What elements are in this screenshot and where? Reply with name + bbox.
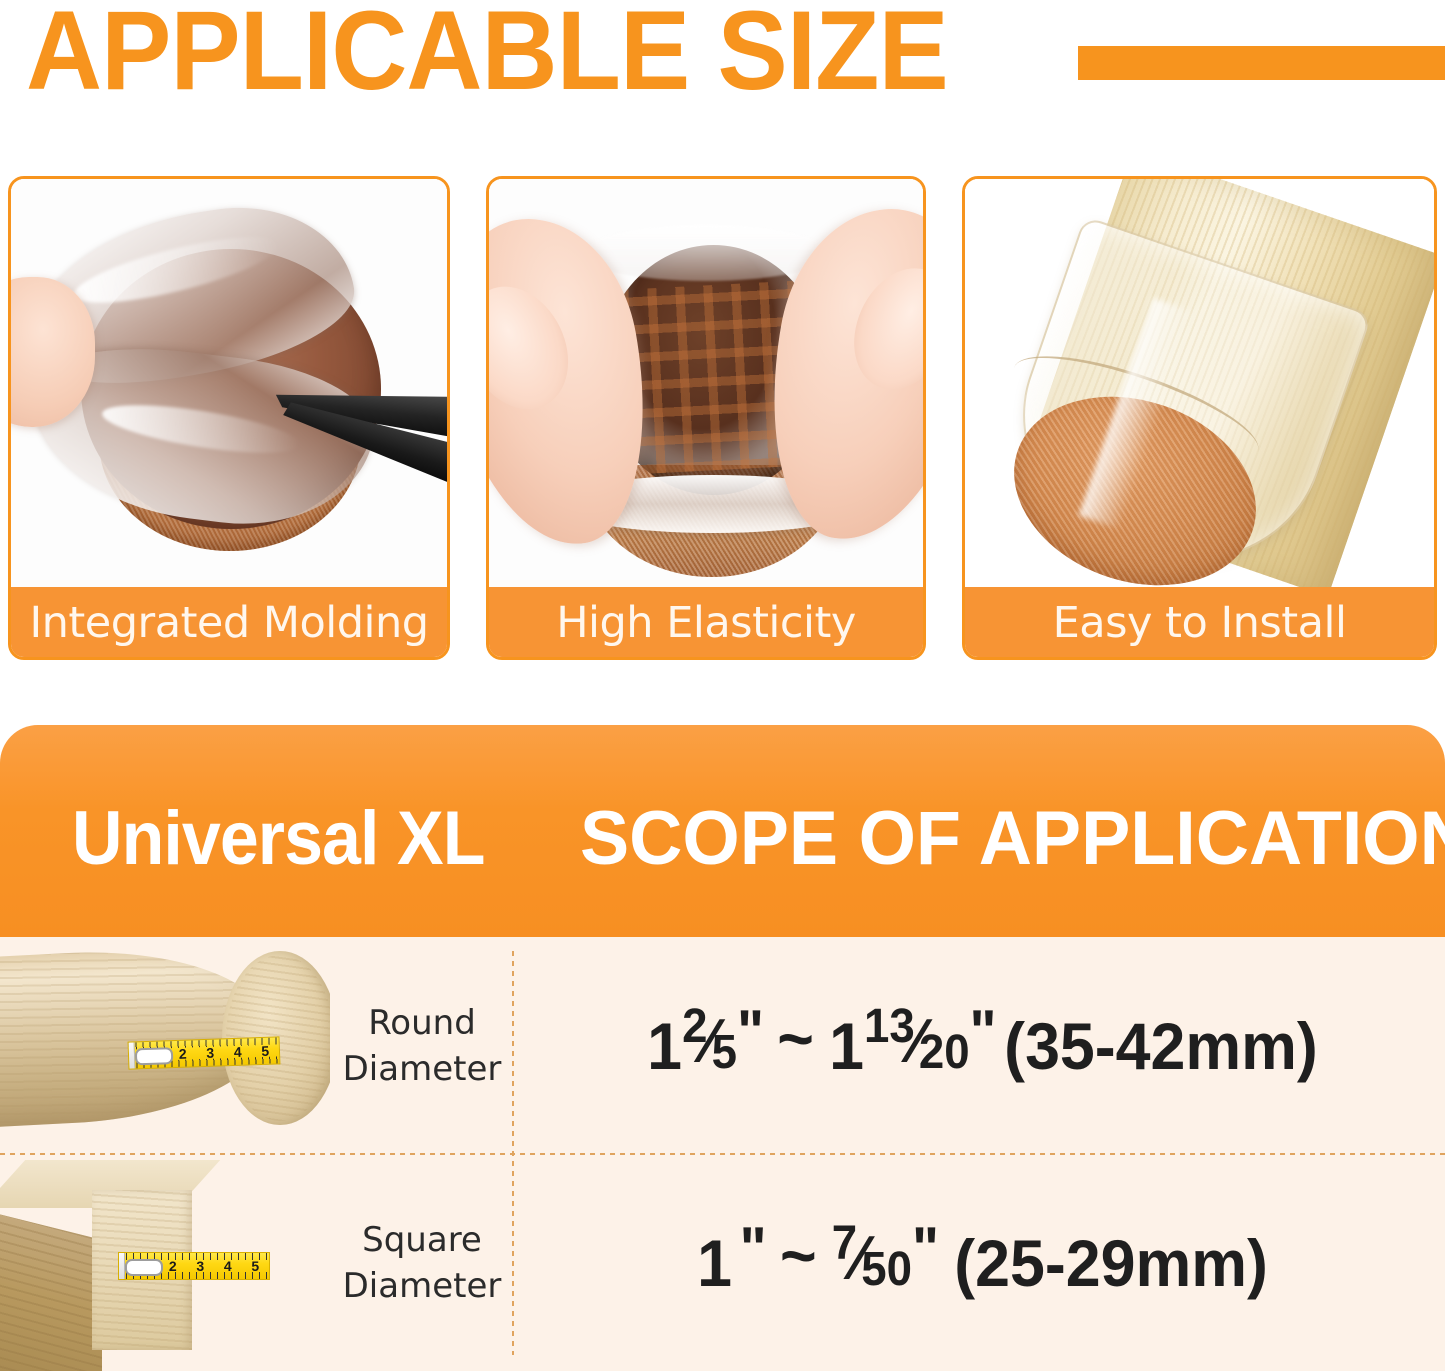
image-round-wood-dowel-with-tape-measure: 2 3 4 5: [0, 937, 330, 1154]
value-range-separator: ~: [777, 1000, 814, 1076]
tape-number: 5: [261, 1043, 269, 1059]
photo-silicone-cap-pinched-with-tweezers: [11, 179, 447, 597]
feature-card-label-band: High Elasticity: [487, 587, 925, 659]
tape-number: 4: [234, 1044, 242, 1060]
infographic-page: APPLICABLE SIZE Integrated M: [0, 0, 1445, 1371]
photo-silicone-cap-stretched-by-thumbs: [489, 179, 923, 597]
spec-label-line1: Round: [368, 1000, 476, 1046]
fraction-denominator: 20: [919, 1029, 970, 1077]
header-accent-bar: [1078, 46, 1445, 80]
square-dowel-side-shape: [0, 1182, 102, 1371]
value-unit-inches: ": [737, 997, 762, 1066]
value-unit-inches: ": [740, 1214, 765, 1283]
feature-card-label-text: High Elasticity: [556, 598, 856, 648]
tape-measure-icon: 2 3 4 5: [128, 1036, 281, 1069]
feature-card-label-text: Easy to Install: [1053, 598, 1347, 648]
fraction-numerator: 13: [864, 1003, 915, 1051]
banner-product-size-title: Universal XL: [72, 795, 485, 882]
spec-label-line1: Square: [362, 1217, 482, 1263]
value-max-whole: 1: [829, 1008, 864, 1084]
value-min-fraction: 2 ⁄ 5: [682, 1009, 737, 1071]
thumbnail-right-shape: [836, 253, 923, 406]
feature-card-label-text: Integrated Molding: [30, 598, 429, 648]
spec-table: 2 3 4 5 Round Diameter 1 2 ⁄ 5 ": [0, 937, 1445, 1371]
value-unit-inches: ": [912, 1214, 937, 1283]
scope-banner: Universal XL SCOPE OF APPLICATION: [0, 725, 1445, 937]
photo-chair-leg-with-cap-installed: [965, 179, 1434, 597]
spec-label-square-diameter: Square Diameter: [336, 1154, 508, 1371]
feature-card-integrated-molding: Integrated Molding: [8, 176, 450, 660]
feature-card-row: Integrated Molding: [0, 176, 1445, 666]
value-min-whole: 1: [647, 1008, 682, 1084]
tape-number: 3: [206, 1045, 214, 1061]
spec-value-round-diameter: 1 2 ⁄ 5 " ~ 1 13 ⁄ 20 " (35-42mm): [562, 937, 1403, 1154]
silicone-gloss-top-shape: [581, 225, 831, 281]
image-square-wood-dowel-with-tape-measure: 2 3 4 5: [0, 1154, 330, 1371]
thumbnail-left-shape: [489, 269, 588, 426]
value-max-fraction: 7 ⁄ 50: [832, 1226, 912, 1288]
tape-number: 2: [169, 1258, 177, 1274]
value-metric: (35-42mm): [1004, 1008, 1318, 1084]
spec-label-round-diameter: Round Diameter: [336, 937, 508, 1154]
feature-card-label-band: Easy to Install: [963, 587, 1436, 659]
spec-label-line2: Diameter: [343, 1046, 502, 1092]
value-max-fraction: 13 ⁄ 20: [864, 1009, 970, 1071]
feature-card-high-elasticity: High Elasticity: [486, 176, 926, 660]
value-metric: (25-29mm): [954, 1225, 1268, 1301]
spec-row-round-diameter: 2 3 4 5 Round Diameter 1 2 ⁄ 5 ": [0, 937, 1445, 1154]
tape-number: 3: [196, 1258, 204, 1274]
feature-card-easy-to-install: Easy to Install: [962, 176, 1437, 660]
tape-number: 4: [224, 1258, 232, 1274]
tape-number: 2: [179, 1046, 187, 1062]
page-title: APPLICABLE SIZE: [26, 0, 948, 106]
fraction-denominator: 5: [712, 1029, 737, 1077]
spec-value-square-diameter: 1 " ~ 7 ⁄ 50 " (25-29mm): [562, 1154, 1403, 1371]
feature-card-label-band: Integrated Molding: [9, 587, 449, 659]
header: APPLICABLE SIZE: [0, 0, 1445, 160]
value-unit-inches: ": [970, 997, 995, 1066]
fraction-denominator: 50: [861, 1246, 912, 1294]
banner-scope-title: SCOPE OF APPLICATION: [580, 795, 1445, 882]
value-min-whole: 1: [697, 1225, 732, 1301]
tape-number: 5: [251, 1258, 259, 1274]
spec-row-square-diameter: 2 3 4 5 Square Diameter 1 " ~ 7 ⁄ 5: [0, 1154, 1445, 1371]
tape-measure-icon: 2 3 4 5: [118, 1252, 270, 1280]
value-range-separator: ~: [780, 1217, 817, 1293]
spec-label-line2: Diameter: [343, 1263, 502, 1309]
